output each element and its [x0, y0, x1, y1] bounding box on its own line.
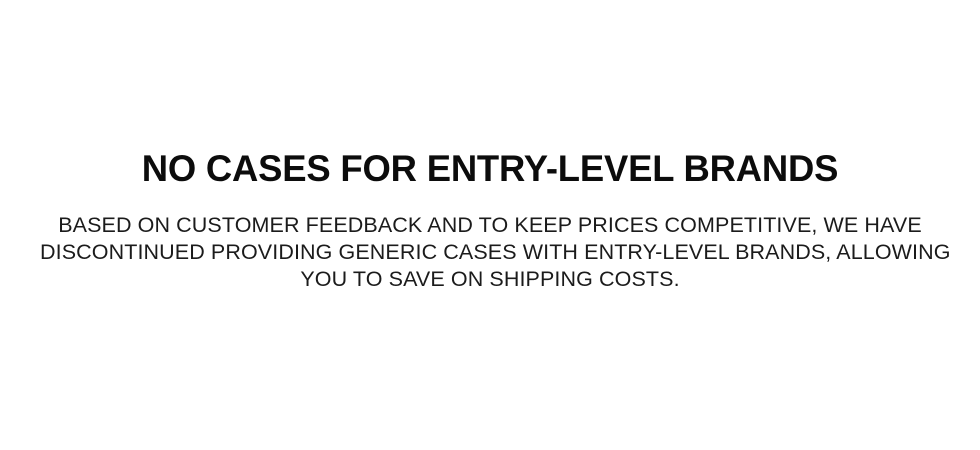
banner-body-text: BASED ON CUSTOMER FEEDBACK AND TO KEEP P… — [40, 212, 940, 293]
banner-heading: NO CASES FOR ENTRY-LEVEL BRANDS — [47, 148, 934, 190]
banner-body-line: YOU TO SAVE ON SHIPPING COSTS. — [40, 266, 940, 293]
banner-body-line: BASED ON CUSTOMER FEEDBACK AND TO KEEP P… — [40, 212, 940, 239]
banner-body-line: DISCONTINUED PROVIDING GENERIC CASES WIT… — [40, 239, 940, 266]
banner-content: NO CASES FOR ENTRY-LEVEL BRANDS BASED ON… — [40, 148, 940, 293]
promo-banner: NO CASES FOR ENTRY-LEVEL BRANDS BASED ON… — [0, 0, 980, 450]
